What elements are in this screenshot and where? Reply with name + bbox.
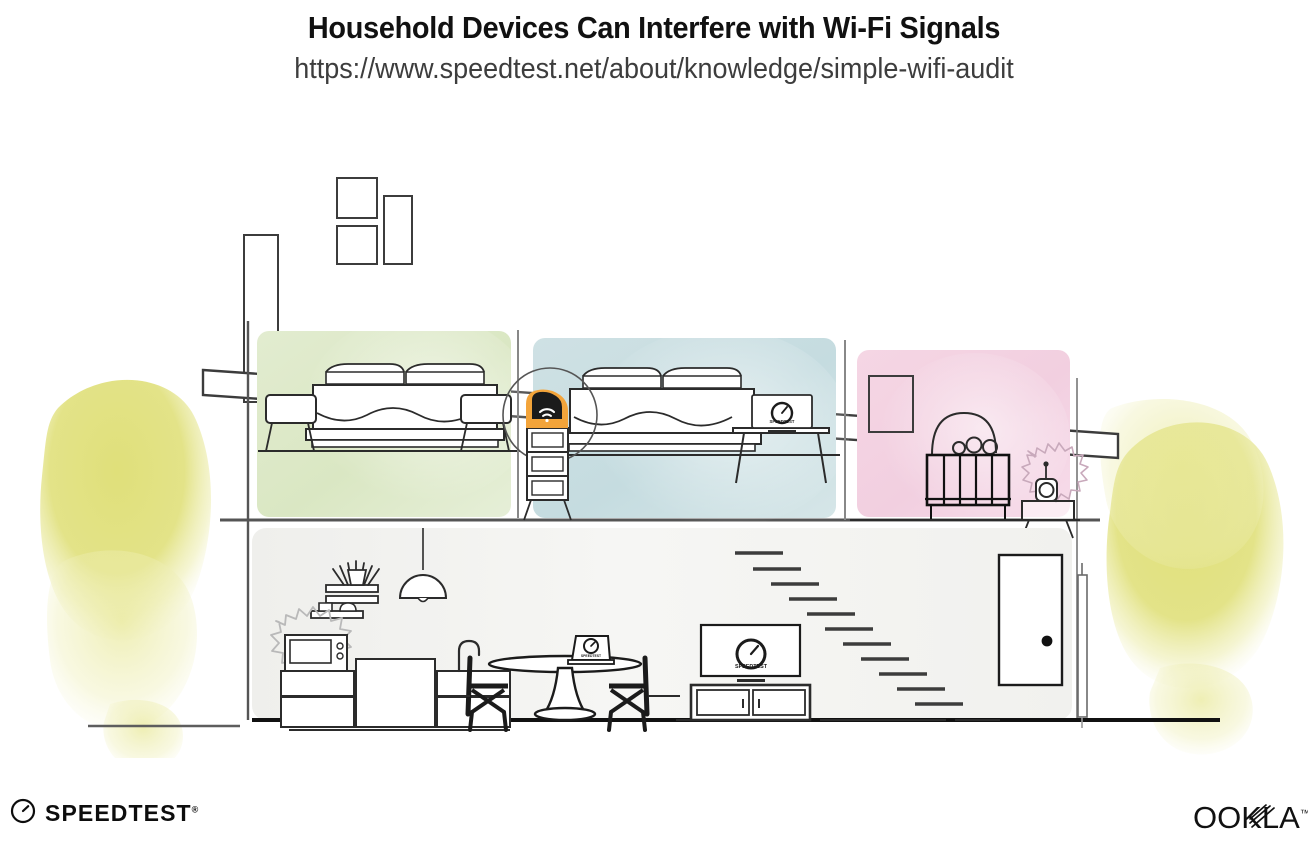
wall-frame-square-bottom <box>337 226 377 264</box>
speedtest-trademark: ® <box>192 804 199 814</box>
poster-footer: SPEEDTEST® OOKLA™ <box>0 780 1308 861</box>
ookla-trademark: ™ <box>1300 809 1308 820</box>
foliage-left <box>40 380 211 758</box>
speedometer-gauge-icon <box>10 798 36 829</box>
front-door[interactable] <box>999 555 1062 685</box>
monitor: SPEEDTEST <box>752 395 812 433</box>
source-url: https://www.speedtest.net/about/knowledg… <box>46 45 1262 86</box>
television: SPEEDTEST <box>701 625 800 682</box>
house-illustration: SPEEDTEST <box>0 108 1308 758</box>
ookla-wordmark-text: OOKLA <box>1193 802 1300 835</box>
tv-brand-text: SPEEDTEST <box>735 664 768 670</box>
media-console <box>691 685 810 720</box>
ookla-k-swoosh-icon <box>1248 803 1278 829</box>
tv-stand <box>737 679 765 682</box>
door-knob <box>1042 636 1053 647</box>
room-blue-bedroom: SPEEDTEST <box>530 328 850 528</box>
wall-frame-square-top-shape <box>337 178 377 218</box>
sidelight-window <box>1078 563 1087 728</box>
shelf-upper-board <box>326 585 378 592</box>
monitor-stand <box>768 430 796 433</box>
wall-shelf-upper <box>326 596 378 603</box>
room-pink-nursery <box>850 350 1088 538</box>
microwave <box>285 635 347 671</box>
wall-frame-tall <box>384 196 412 264</box>
wall-frame-square-top <box>337 178 377 218</box>
laptop: SPEEDTEST <box>568 636 614 664</box>
foliage-right <box>1100 399 1284 754</box>
page-title: Household Devices Can Interfere with Wi-… <box>46 0 1262 45</box>
poster-root: Household Devices Can Interfere with Wi-… <box>0 0 1308 861</box>
speedtest-wordmark: SPEEDTEST® <box>45 802 198 825</box>
poster-header: Household Devices Can Interfere with Wi-… <box>0 0 1308 86</box>
laptop-brand-text: SPEEDTEST <box>581 654 602 658</box>
speedtest-wordmark-text: SPEEDTEST <box>45 800 192 826</box>
room-green-bedroom <box>257 178 535 517</box>
monitor-brand-text: SPEEDTEST <box>770 419 795 424</box>
speedtest-logo: SPEEDTEST® <box>10 798 198 829</box>
ookla-logo: OOKLA™ <box>1193 802 1308 846</box>
